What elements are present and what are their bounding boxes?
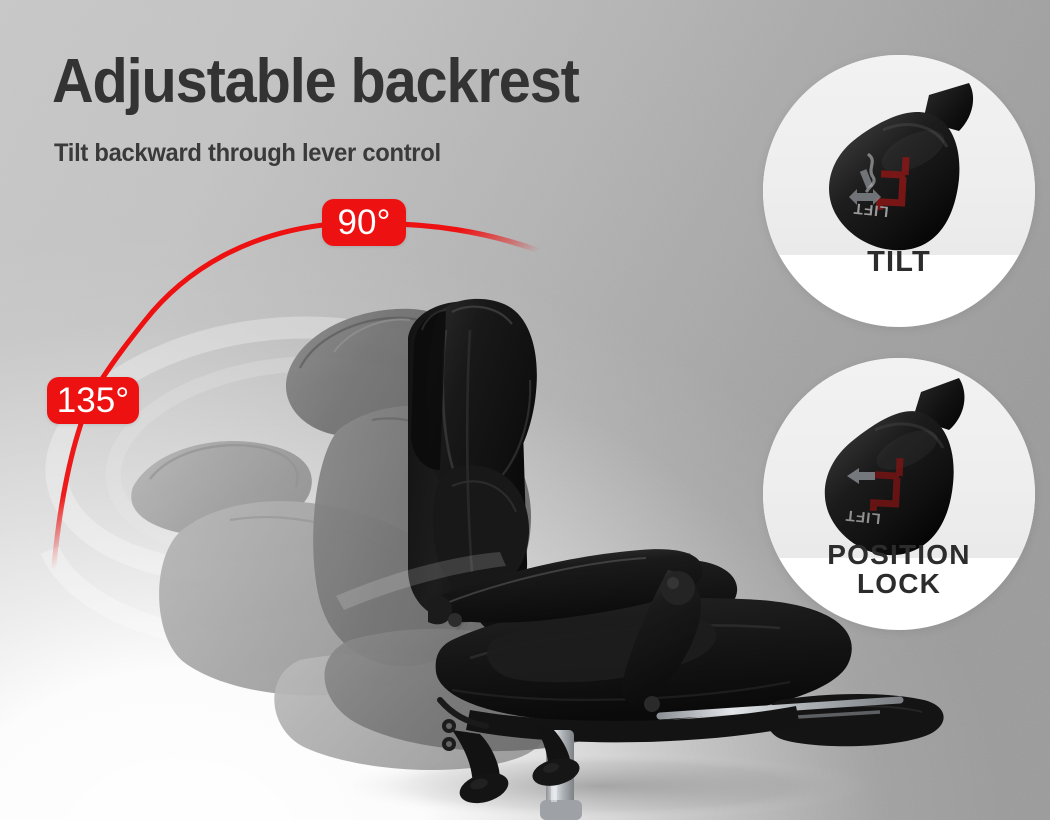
angle-badge-135: 135° [47, 377, 139, 424]
feature-label-position-lock: POSITION LOCK [763, 540, 1035, 598]
infographic-canvas: 90° 135° [0, 0, 1050, 820]
page-title: Adjustable backrest [52, 50, 579, 114]
page-subtitle: Tilt backward through lever control [54, 138, 441, 168]
backrest-ghost-110 [286, 309, 616, 751]
angle-badge-90: 90° [322, 199, 406, 246]
feature-label-line1: POSITION [827, 539, 970, 570]
feature-circle-tilt[interactable]: LIFT TILT [763, 55, 1035, 327]
feature-label-tilt: TILT [763, 247, 1035, 277]
backrest-ghost-135 [131, 441, 547, 770]
feature-circle-position-lock[interactable]: LIFT POSITION LOCK [763, 358, 1035, 630]
feature-label-line2: LOCK [857, 568, 941, 599]
tilt-lever-knob-icon: LIFT [763, 55, 1035, 327]
brand-watermark [20, 300, 660, 640]
